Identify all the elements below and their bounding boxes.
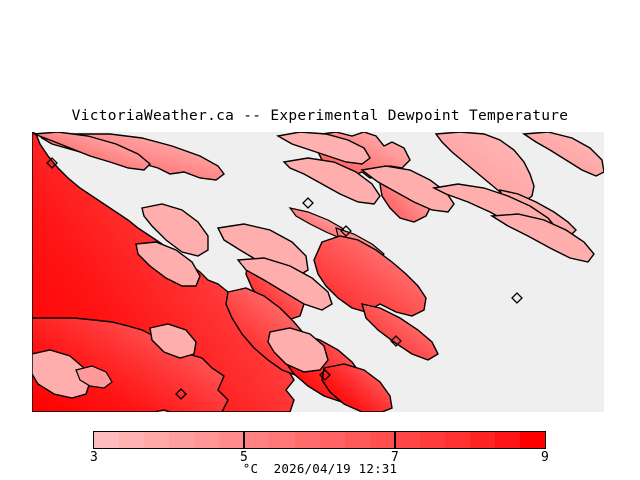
colorbar-swatch-11 [370, 432, 395, 448]
colorbar-swatch-0 [94, 432, 119, 448]
colorbar-swatch-16 [495, 432, 520, 448]
colorbar-swatch-5 [219, 432, 244, 448]
colorbar-swatch-12 [395, 432, 420, 448]
colorbar[interactable] [93, 431, 546, 449]
colorbar-swatch-2 [144, 432, 169, 448]
colorbar-swatch-7 [269, 432, 294, 448]
colorbar-swatch-15 [470, 432, 495, 448]
colorbar-swatch-17 [520, 432, 545, 448]
colorbar-tick-divider-5 [243, 431, 245, 449]
colorbar-swatch-6 [244, 432, 269, 448]
colorbar-swatch-4 [194, 432, 219, 448]
colorbar-caption: °C 2026/04/19 12:31 [0, 461, 640, 476]
page-title: VictoriaWeather.ca -- Experimental Dewpo… [0, 108, 640, 124]
colorbar-swatch-14 [445, 432, 470, 448]
colorbar-gradient[interactable] [93, 431, 546, 449]
colorbar-tick-divider-7 [394, 431, 396, 449]
colorbar-swatch-8 [295, 432, 320, 448]
weather-map-page: VictoriaWeather.ca -- Experimental Dewpo… [0, 0, 640, 480]
map-svg [32, 132, 604, 412]
colorbar-swatch-1 [119, 432, 144, 448]
colorbar-swatch-9 [320, 432, 345, 448]
map-canvas[interactable] [32, 132, 604, 412]
colorbar-swatch-13 [420, 432, 445, 448]
colorbar-swatch-10 [345, 432, 370, 448]
colorbar-swatch-3 [169, 432, 194, 448]
